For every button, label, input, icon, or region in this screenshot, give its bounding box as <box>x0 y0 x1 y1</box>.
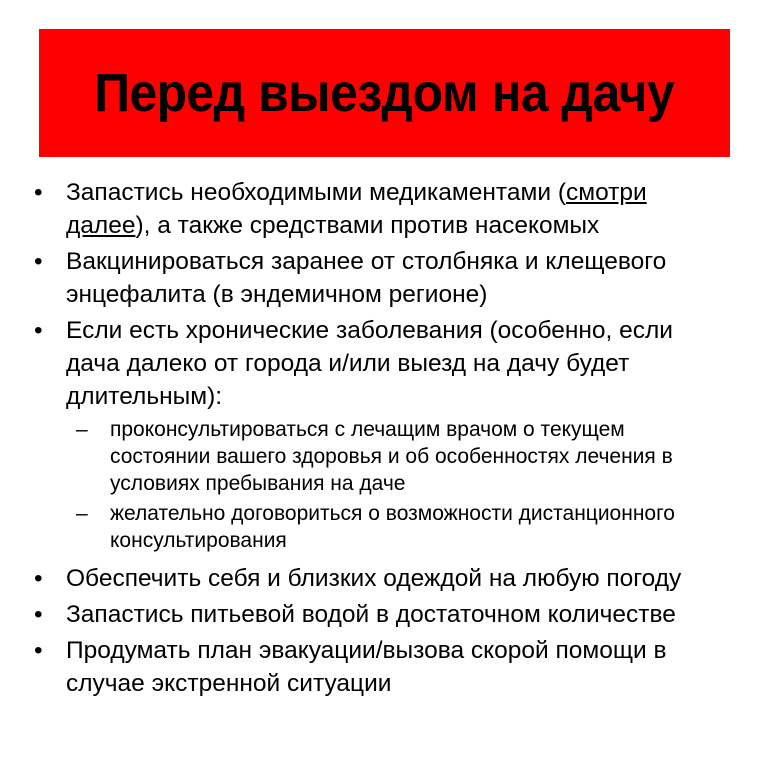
sub-list-item-text: проконсультироваться с лечащим врачом о … <box>110 416 710 497</box>
sub-list-item-text: желательно договориться о возможности ди… <box>110 500 710 554</box>
list-item-text-before: Запастись необходимыми медикаментами ( <box>66 179 566 206</box>
title-banner: Перед выездом на дачу <box>39 29 730 157</box>
list-item-text-after: ), а также средствами против насекомых <box>135 212 599 239</box>
bullet-marker: • <box>34 176 48 209</box>
list-item: • Вакцинироваться заранее от столбняка и… <box>0 245 770 311</box>
list-item: • Если есть хронические заболевания (осо… <box>0 314 770 413</box>
bullet-marker: • <box>34 562 48 595</box>
bullet-marker: • <box>34 598 48 631</box>
slide: Перед выездом на дачу • Запастись необхо… <box>0 0 770 770</box>
bullet-marker: • <box>34 314 48 347</box>
bullet-marker: • <box>34 245 48 278</box>
list-item-text: Обеспечить себя и близких одеждой на люб… <box>66 562 732 595</box>
dash-marker: – <box>76 416 94 443</box>
list-item: • Запастись питьевой водой в достаточном… <box>0 598 770 631</box>
list-item-text: Если есть хронические заболевания (особе… <box>66 314 732 413</box>
bullet-list: • Запастись необходимыми медикаментами (… <box>0 176 770 700</box>
list-item: • Обеспечить себя и близких одеждой на л… <box>0 562 770 595</box>
sub-list-item: – желательно договориться о возможности … <box>0 500 770 554</box>
page-title: Перед выездом на дачу <box>95 66 675 120</box>
list-item: • Запастись необходимыми медикаментами (… <box>0 176 770 242</box>
bullet-marker: • <box>34 634 48 667</box>
dash-marker: – <box>76 500 94 527</box>
list-item-text: Продумать план эвакуации/вызова скорой п… <box>66 634 732 700</box>
list-item-text: Запастись необходимыми медикаментами (см… <box>66 176 732 242</box>
list-item-text: Запастись питьевой водой в достаточном к… <box>66 598 732 631</box>
sub-list-item: – проконсультироваться с лечащим врачом … <box>0 416 770 497</box>
list-item: • Продумать план эвакуации/вызова скорой… <box>0 634 770 700</box>
list-item-text: Вакцинироваться заранее от столбняка и к… <box>66 245 732 311</box>
